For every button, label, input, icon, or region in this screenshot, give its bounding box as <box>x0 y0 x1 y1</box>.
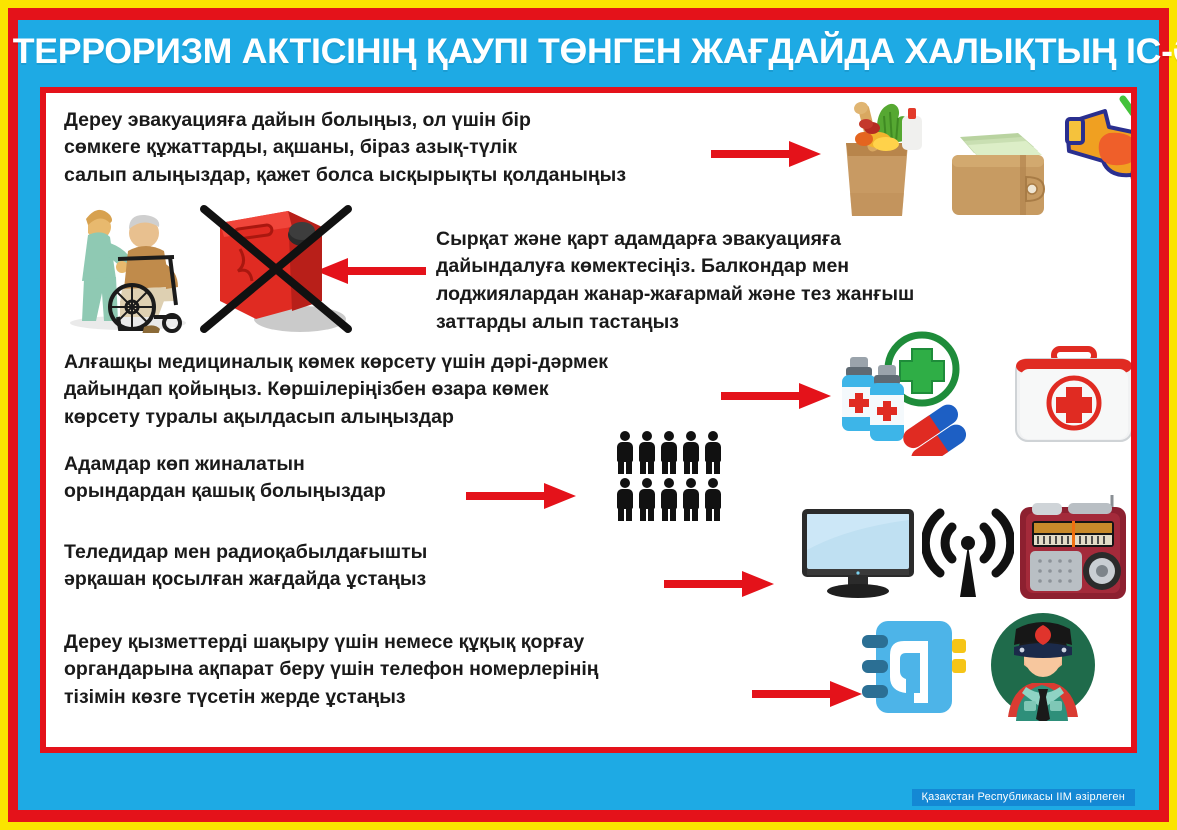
person-pictogram <box>682 478 700 521</box>
content-red-border: Дереу эвакуацияға дайын болыңыз, ол үшін… <box>40 87 1137 753</box>
outer-red-frame: ТЕРРОРИЗМ АКТІСІНІҢ ҚАУПІ ТӨНГЕН ЖАҒДАЙД… <box>8 8 1169 822</box>
radio-icon <box>1016 491 1131 603</box>
person-pictogram <box>704 431 722 474</box>
nurse-wheelchair-icon <box>58 193 198 333</box>
grocery-bag-icon <box>816 98 936 218</box>
content-panel: Дереу эвакуацияға дайын болыңыз, ол үшін… <box>46 93 1131 747</box>
medicine-bottles-icon <box>836 331 986 456</box>
item-emergency-phone-numbers: Дереу қызметтерді шақыру үшін немесе құқ… <box>64 629 744 712</box>
item-evacuation-kit: Дереу эвакуацияға дайын болыңыз, ол үшін… <box>64 107 704 190</box>
arrow-right-icon <box>721 383 831 409</box>
item-avoid-crowded-places: Адамдар көп жиналатын орындардан қашық б… <box>64 451 504 506</box>
page-title: ТЕРРОРИЗМ АКТІСІНІҢ ҚАУПІ ТӨНГЕН ЖАҒДАЙД… <box>13 34 1165 71</box>
phone-book-icon <box>856 613 976 718</box>
arrow-right-icon <box>466 483 576 509</box>
person-pictogram <box>638 478 656 521</box>
first-aid-kit-icon <box>1006 343 1131 448</box>
person-pictogram <box>616 478 634 521</box>
credit-badge: Қазақстан Республикасы ІІМ әзірлеген <box>912 789 1135 806</box>
whistle-icon <box>1051 93 1131 198</box>
broadcast-signal-icon <box>922 501 1014 601</box>
poster-root: ТЕРРОРИЗМ АКТІСІНІҢ ҚАУПІ ТӨНГЕН ЖАҒДАЙД… <box>0 0 1177 830</box>
person-pictogram <box>660 431 678 474</box>
fuel-can-crossed-icon <box>196 201 356 341</box>
wallet-icon <box>946 131 1056 221</box>
item-help-elderly-and-sick: Сырқат және қарт адамдарға эвакуацияға д… <box>436 226 1046 337</box>
arrow-right-icon <box>664 571 774 597</box>
item-text: Сырқат және қарт адамдарға эвакуацияға д… <box>436 226 1046 337</box>
blue-background: ТЕРРОРИЗМ АКТІСІНІҢ ҚАУПІ ТӨНГЕН ЖАҒДАЙД… <box>18 20 1159 810</box>
television-icon <box>798 505 918 600</box>
person-pictogram <box>638 431 656 474</box>
item-text: Дереу қызметтерді шақыру үшін немесе құқ… <box>64 629 744 712</box>
police-officer-icon <box>986 609 1101 721</box>
person-pictogram <box>616 431 634 474</box>
item-text: Дереу эвакуацияға дайын болыңыз, ол үшін… <box>64 107 704 190</box>
item-text: Теледидар мен радиоқабылдағышты әрқашан … <box>64 539 544 594</box>
person-pictogram <box>704 478 722 521</box>
arrow-right-icon <box>711 141 821 167</box>
title-bar: ТЕРРОРИЗМ АКТІСІНІҢ ҚАУПІ ТӨНГЕН ЖАҒДАЙД… <box>18 20 1159 81</box>
item-text: Алғашқы медициналық көмек көрсету үшін д… <box>64 349 714 432</box>
person-pictogram <box>682 431 700 474</box>
person-pictogram <box>660 478 678 521</box>
item-text: Адамдар көп жиналатын орындардан қашық б… <box>64 451 504 506</box>
item-first-aid-medicine: Алғашқы медициналық көмек көрсету үшін д… <box>64 349 714 432</box>
item-keep-tv-radio-on: Теледидар мен радиоқабылдағышты әрқашан … <box>64 539 544 594</box>
arrow-right-icon <box>752 681 862 707</box>
crowd-people-icon <box>616 431 722 521</box>
